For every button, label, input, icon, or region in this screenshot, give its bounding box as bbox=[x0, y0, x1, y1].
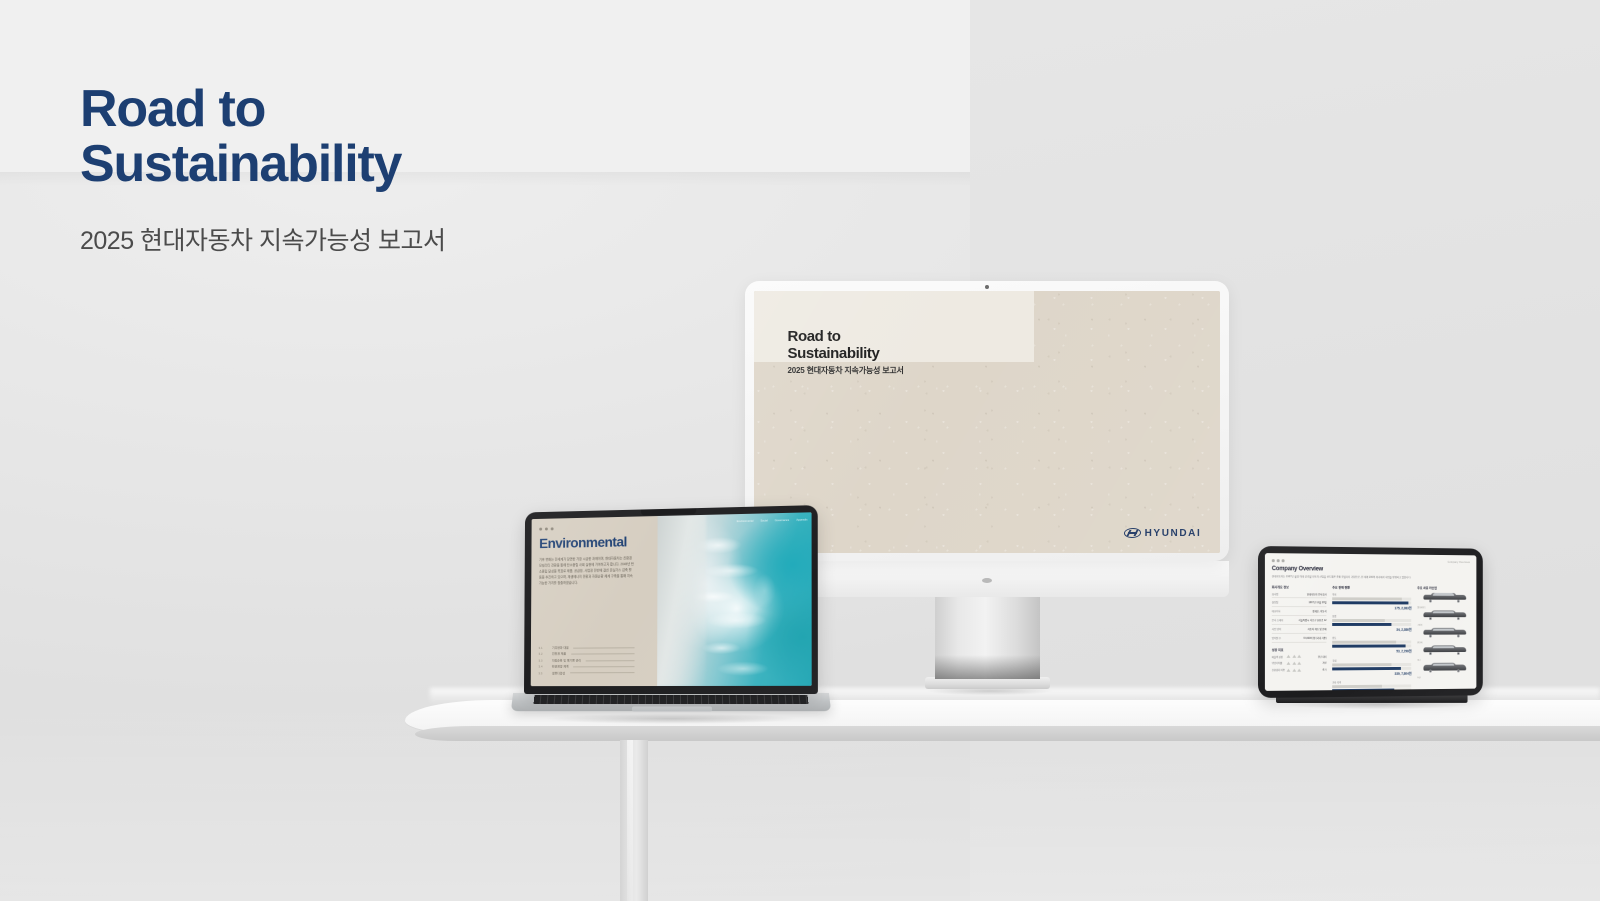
vehicle-item: 싼타페 bbox=[1417, 627, 1469, 644]
bar-category-label: 북미 bbox=[1332, 592, 1411, 596]
table-row: 본사 소재지 서울특별시 서초구 헌릉로 12 bbox=[1272, 618, 1327, 624]
bar-track-secondary bbox=[1332, 663, 1411, 666]
vehicle-item: 그랜저 bbox=[1417, 610, 1469, 627]
bar-track-secondary bbox=[1332, 619, 1411, 622]
laptop-keyboard[interactable] bbox=[534, 695, 809, 704]
sales-chart-column: 주요 판매 현황 북미 175, 2,383천 유럽 bbox=[1332, 585, 1411, 691]
row-key: 회사명 bbox=[1272, 592, 1278, 596]
trend-up-icon bbox=[1287, 662, 1302, 665]
toc-item[interactable]: 3.4 환경경영 체계 bbox=[538, 664, 634, 668]
toc-item-rule bbox=[574, 647, 635, 648]
cover-slide-title: Road to Sustainability bbox=[788, 329, 880, 363]
bar-track-primary bbox=[1332, 667, 1411, 671]
toc-item-rule bbox=[570, 672, 634, 673]
row-value: 현대자동차 주식회사 bbox=[1307, 592, 1327, 596]
toc-item[interactable]: 3.2 친환경 제품 bbox=[539, 652, 635, 656]
table-row: 사업 영역 자동차 제조 및 판매 bbox=[1272, 627, 1327, 633]
cover-title-line-1: Road to bbox=[788, 329, 880, 346]
growth-row: 영업이익률 개선 bbox=[1272, 661, 1327, 665]
row-key: 대표이사 bbox=[1272, 609, 1281, 613]
page-title: Road to Sustainability bbox=[80, 82, 445, 191]
environmental-hero-image: Environmental Social Governance Appendix bbox=[657, 512, 811, 686]
toc-item-label: 생물다양성 bbox=[552, 671, 565, 675]
growth-value: 개선 bbox=[1322, 661, 1326, 665]
slide-header-label: Company Overview bbox=[1448, 561, 1470, 564]
window-controls-icon[interactable] bbox=[1272, 559, 1470, 563]
environmental-title: Environmental bbox=[539, 534, 650, 550]
cover-slide-subtitle: 2025 현대자동차 지속가능성 보고서 bbox=[788, 365, 904, 376]
toc-item-label: 자원순환 및 폐기물 관리 bbox=[552, 658, 581, 662]
profile-column: 회사개요 정보 회사명 현대자동차 주식회사 설립일 1967년 12월 29일… bbox=[1272, 585, 1327, 691]
page-title-line-2: Sustainability bbox=[80, 137, 445, 192]
toc-item-number: 3.4 bbox=[538, 665, 547, 669]
topnav-item-environmental[interactable]: Environmental bbox=[737, 520, 754, 523]
desk-leg bbox=[620, 740, 648, 901]
laptop-lid: Environmental 기후 변화는 전세계가 당면한 가장 시급한 과제이… bbox=[524, 505, 818, 694]
car-silhouette-icon bbox=[1417, 662, 1469, 673]
toc-item-label: 환경경영 체계 bbox=[552, 665, 569, 669]
bar-category-label: 유럽 bbox=[1332, 614, 1411, 618]
environmental-body-text: 기후 변화는 전세계가 당면한 가장 시급한 과제이며, 현대자동차는 친환경 … bbox=[539, 555, 634, 586]
bar-group: 유럽 34, 2,386천 bbox=[1332, 614, 1411, 632]
bar-category-label: 국내 bbox=[1332, 658, 1411, 662]
row-key: 본사 소재지 bbox=[1272, 618, 1283, 622]
vehicle-name: 투싼 bbox=[1417, 677, 1469, 680]
toc-item-label: 친환경 제품 bbox=[552, 652, 566, 656]
bar-category-label: 기타 지역 bbox=[1332, 680, 1411, 685]
environmental-left-column: Environmental 기후 변화는 전세계가 당면한 가장 시급한 과제이… bbox=[531, 516, 658, 686]
hero-text-block: Road to Sustainability 2025 현대자동차 지속가능성 … bbox=[80, 82, 445, 257]
desk-leg-highlight bbox=[627, 740, 633, 901]
toc-item-number: 3.5 bbox=[538, 671, 547, 675]
growth-label: 친환경차 비중 bbox=[1272, 668, 1284, 672]
bar-group: 인도 53, 2,298천 bbox=[1332, 636, 1411, 654]
tablet-screen[interactable]: Company Overview Company Overview 현대자동차는… bbox=[1265, 553, 1476, 691]
laptop-screen[interactable]: Environmental 기후 변화는 전세계가 당면한 가장 시급한 과제이… bbox=[531, 512, 812, 686]
environmental-toc: 3.1 기후변화 대응 3.2 친환경 제품 3.3 bbox=[538, 645, 634, 677]
growth-value: 증가 bbox=[1322, 668, 1326, 672]
shoreline bbox=[657, 515, 706, 686]
company-overview-slide: Company Overview Company Overview 현대자동차는… bbox=[1265, 553, 1476, 691]
bar-group: 북미 175, 2,383천 bbox=[1332, 592, 1411, 610]
tablet-body: Company Overview Company Overview 현대자동차는… bbox=[1258, 546, 1483, 698]
trend-up-icon bbox=[1287, 668, 1302, 671]
growth-label: 영업이익률 bbox=[1272, 661, 1284, 665]
toc-item-label: 기후변화 대응 bbox=[552, 646, 569, 650]
bar-track-primary bbox=[1332, 623, 1411, 626]
growth-section-header: 성장 지표 bbox=[1272, 648, 1327, 652]
toc-item[interactable]: 3.1 기후변화 대응 bbox=[539, 645, 635, 650]
vehicle-lineup-header: 주요 차종 라인업 bbox=[1417, 585, 1469, 589]
toc-item-number: 3.2 bbox=[539, 652, 548, 656]
vehicle-lineup-column: 주요 차종 라인업 팰리세이드 bbox=[1417, 585, 1469, 690]
page-subtitle: 2025 현대자동차 지속가능성 보고서 bbox=[80, 221, 445, 257]
window-dot-icon bbox=[1277, 559, 1279, 562]
laptop-device[interactable]: Environmental 기후 변화는 전세계가 당면한 가장 시급한 과제이… bbox=[512, 508, 830, 723]
laptop-trackpad[interactable] bbox=[632, 707, 712, 712]
growth-value: 전년 대비 bbox=[1318, 654, 1327, 658]
car-silhouette-icon bbox=[1417, 610, 1469, 621]
scene-container: Road to Sustainability 2025 현대자동차 지속가능성 … bbox=[0, 0, 1600, 901]
window-dot-icon bbox=[1272, 559, 1274, 562]
environmental-slide: Environmental 기후 변화는 전세계가 당면한 가장 시급한 과제이… bbox=[531, 512, 812, 686]
monitor-logo-icon bbox=[982, 578, 992, 583]
bar-track-secondary bbox=[1332, 641, 1411, 644]
growth-label: 매출액 성장 bbox=[1272, 655, 1284, 659]
cover-title-line-2: Sustainability bbox=[788, 346, 880, 363]
growth-row: 매출액 성장 전년 대비 bbox=[1272, 654, 1327, 658]
hyundai-logo: HYUNDAI bbox=[1124, 528, 1202, 539]
desk-edge bbox=[415, 726, 1600, 741]
table-row: 회사명 현대자동차 주식회사 bbox=[1272, 592, 1327, 599]
window-dot-icon bbox=[551, 527, 554, 530]
bar-value-label: 175, 2,383천 bbox=[1332, 605, 1411, 610]
toc-item-rule bbox=[573, 666, 634, 667]
topnav-item-governance[interactable]: Governance bbox=[775, 519, 789, 522]
growth-row: 친환경차 비중 증가 bbox=[1272, 668, 1327, 672]
bar-value-label: 339, 7,804천 bbox=[1332, 670, 1411, 676]
row-key: 사업 영역 bbox=[1272, 627, 1281, 631]
row-value: 서울특별시 서초구 헌릉로 12 bbox=[1299, 618, 1327, 622]
table-row: 대표이사 장재훈, 이동석 bbox=[1272, 609, 1327, 615]
bar-group: 국내 339, 7,804천 bbox=[1332, 658, 1411, 676]
topnav-item-appendix[interactable]: Appendix bbox=[796, 518, 807, 521]
page-title-line-1: Road to bbox=[80, 80, 265, 138]
hyundai-emblem-icon bbox=[1123, 528, 1141, 538]
row-value: 1967년 12월 29일 bbox=[1309, 601, 1327, 605]
table-row: 임직원 수 72,000여 명 (국내 기준) bbox=[1272, 636, 1327, 643]
car-silhouette-icon bbox=[1417, 645, 1469, 656]
monitor-neck-shadow bbox=[935, 655, 1040, 679]
bar-category-label: 인도 bbox=[1332, 636, 1411, 640]
company-overview-columns: 회사개요 정보 회사명 현대자동차 주식회사 설립일 1967년 12월 29일… bbox=[1272, 585, 1470, 691]
window-dot-icon bbox=[1282, 559, 1284, 562]
row-value: 72,000여 명 (국내 기준) bbox=[1303, 636, 1326, 640]
profile-column-header: 회사개요 정보 bbox=[1272, 585, 1327, 589]
car-silhouette-icon bbox=[1417, 627, 1469, 638]
bar-track-primary bbox=[1332, 688, 1411, 691]
company-overview-title: Company Overview bbox=[1272, 566, 1470, 574]
trend-up-icon bbox=[1287, 655, 1302, 658]
vehicle-item: 팰리세이드 bbox=[1417, 592, 1469, 609]
car-silhouette-icon bbox=[1417, 592, 1469, 603]
row-key: 설립일 bbox=[1272, 601, 1278, 605]
vehicle-item: 코나 bbox=[1417, 645, 1469, 662]
toc-item-number: 3.3 bbox=[539, 658, 548, 662]
row-key: 임직원 수 bbox=[1272, 636, 1281, 640]
vehicle-item: 투싼 bbox=[1417, 662, 1469, 679]
topnav-item-social[interactable]: Social bbox=[760, 519, 767, 522]
bar-group: 기타 지역 245, 2,758천 bbox=[1332, 680, 1411, 691]
webcam-icon bbox=[985, 285, 989, 289]
bar-track-secondary bbox=[1332, 597, 1411, 600]
tablet-device[interactable]: Company Overview Company Overview 현대자동차는… bbox=[1258, 546, 1494, 698]
hyundai-wordmark: HYUNDAI bbox=[1145, 528, 1202, 539]
window-controls-icon[interactable] bbox=[539, 525, 650, 530]
bar-track-primary bbox=[1332, 645, 1411, 648]
toc-item-number: 3.1 bbox=[539, 646, 548, 650]
growth-indicator-list: 매출액 성장 전년 대비 영업이익률 개선 bbox=[1272, 654, 1327, 671]
row-value: 장재훈, 이동석 bbox=[1312, 610, 1326, 614]
row-value: 자동차 제조 및 판매 bbox=[1308, 627, 1327, 631]
sales-chart-header: 주요 판매 현황 bbox=[1332, 585, 1411, 589]
bar-value-label: 34, 2,386천 bbox=[1332, 627, 1411, 632]
table-row: 설립일 1967년 12월 29일 bbox=[1272, 601, 1327, 608]
bar-track-primary bbox=[1332, 601, 1411, 604]
toc-item[interactable]: 3.3 자원순환 및 폐기물 관리 bbox=[539, 658, 635, 662]
toc-item[interactable]: 3.5 생물다양성 bbox=[538, 671, 634, 675]
toc-item-rule bbox=[586, 660, 635, 661]
bar-value-label: 53, 2,298천 bbox=[1332, 649, 1411, 654]
window-dot-icon bbox=[539, 528, 542, 531]
company-overview-description: 현대자동차는 1967년 설립 이래 글로벌 자동차 산업을 선도해온 종합 모… bbox=[1272, 575, 1455, 580]
window-dot-icon bbox=[545, 527, 548, 530]
toc-item-rule bbox=[571, 653, 635, 654]
